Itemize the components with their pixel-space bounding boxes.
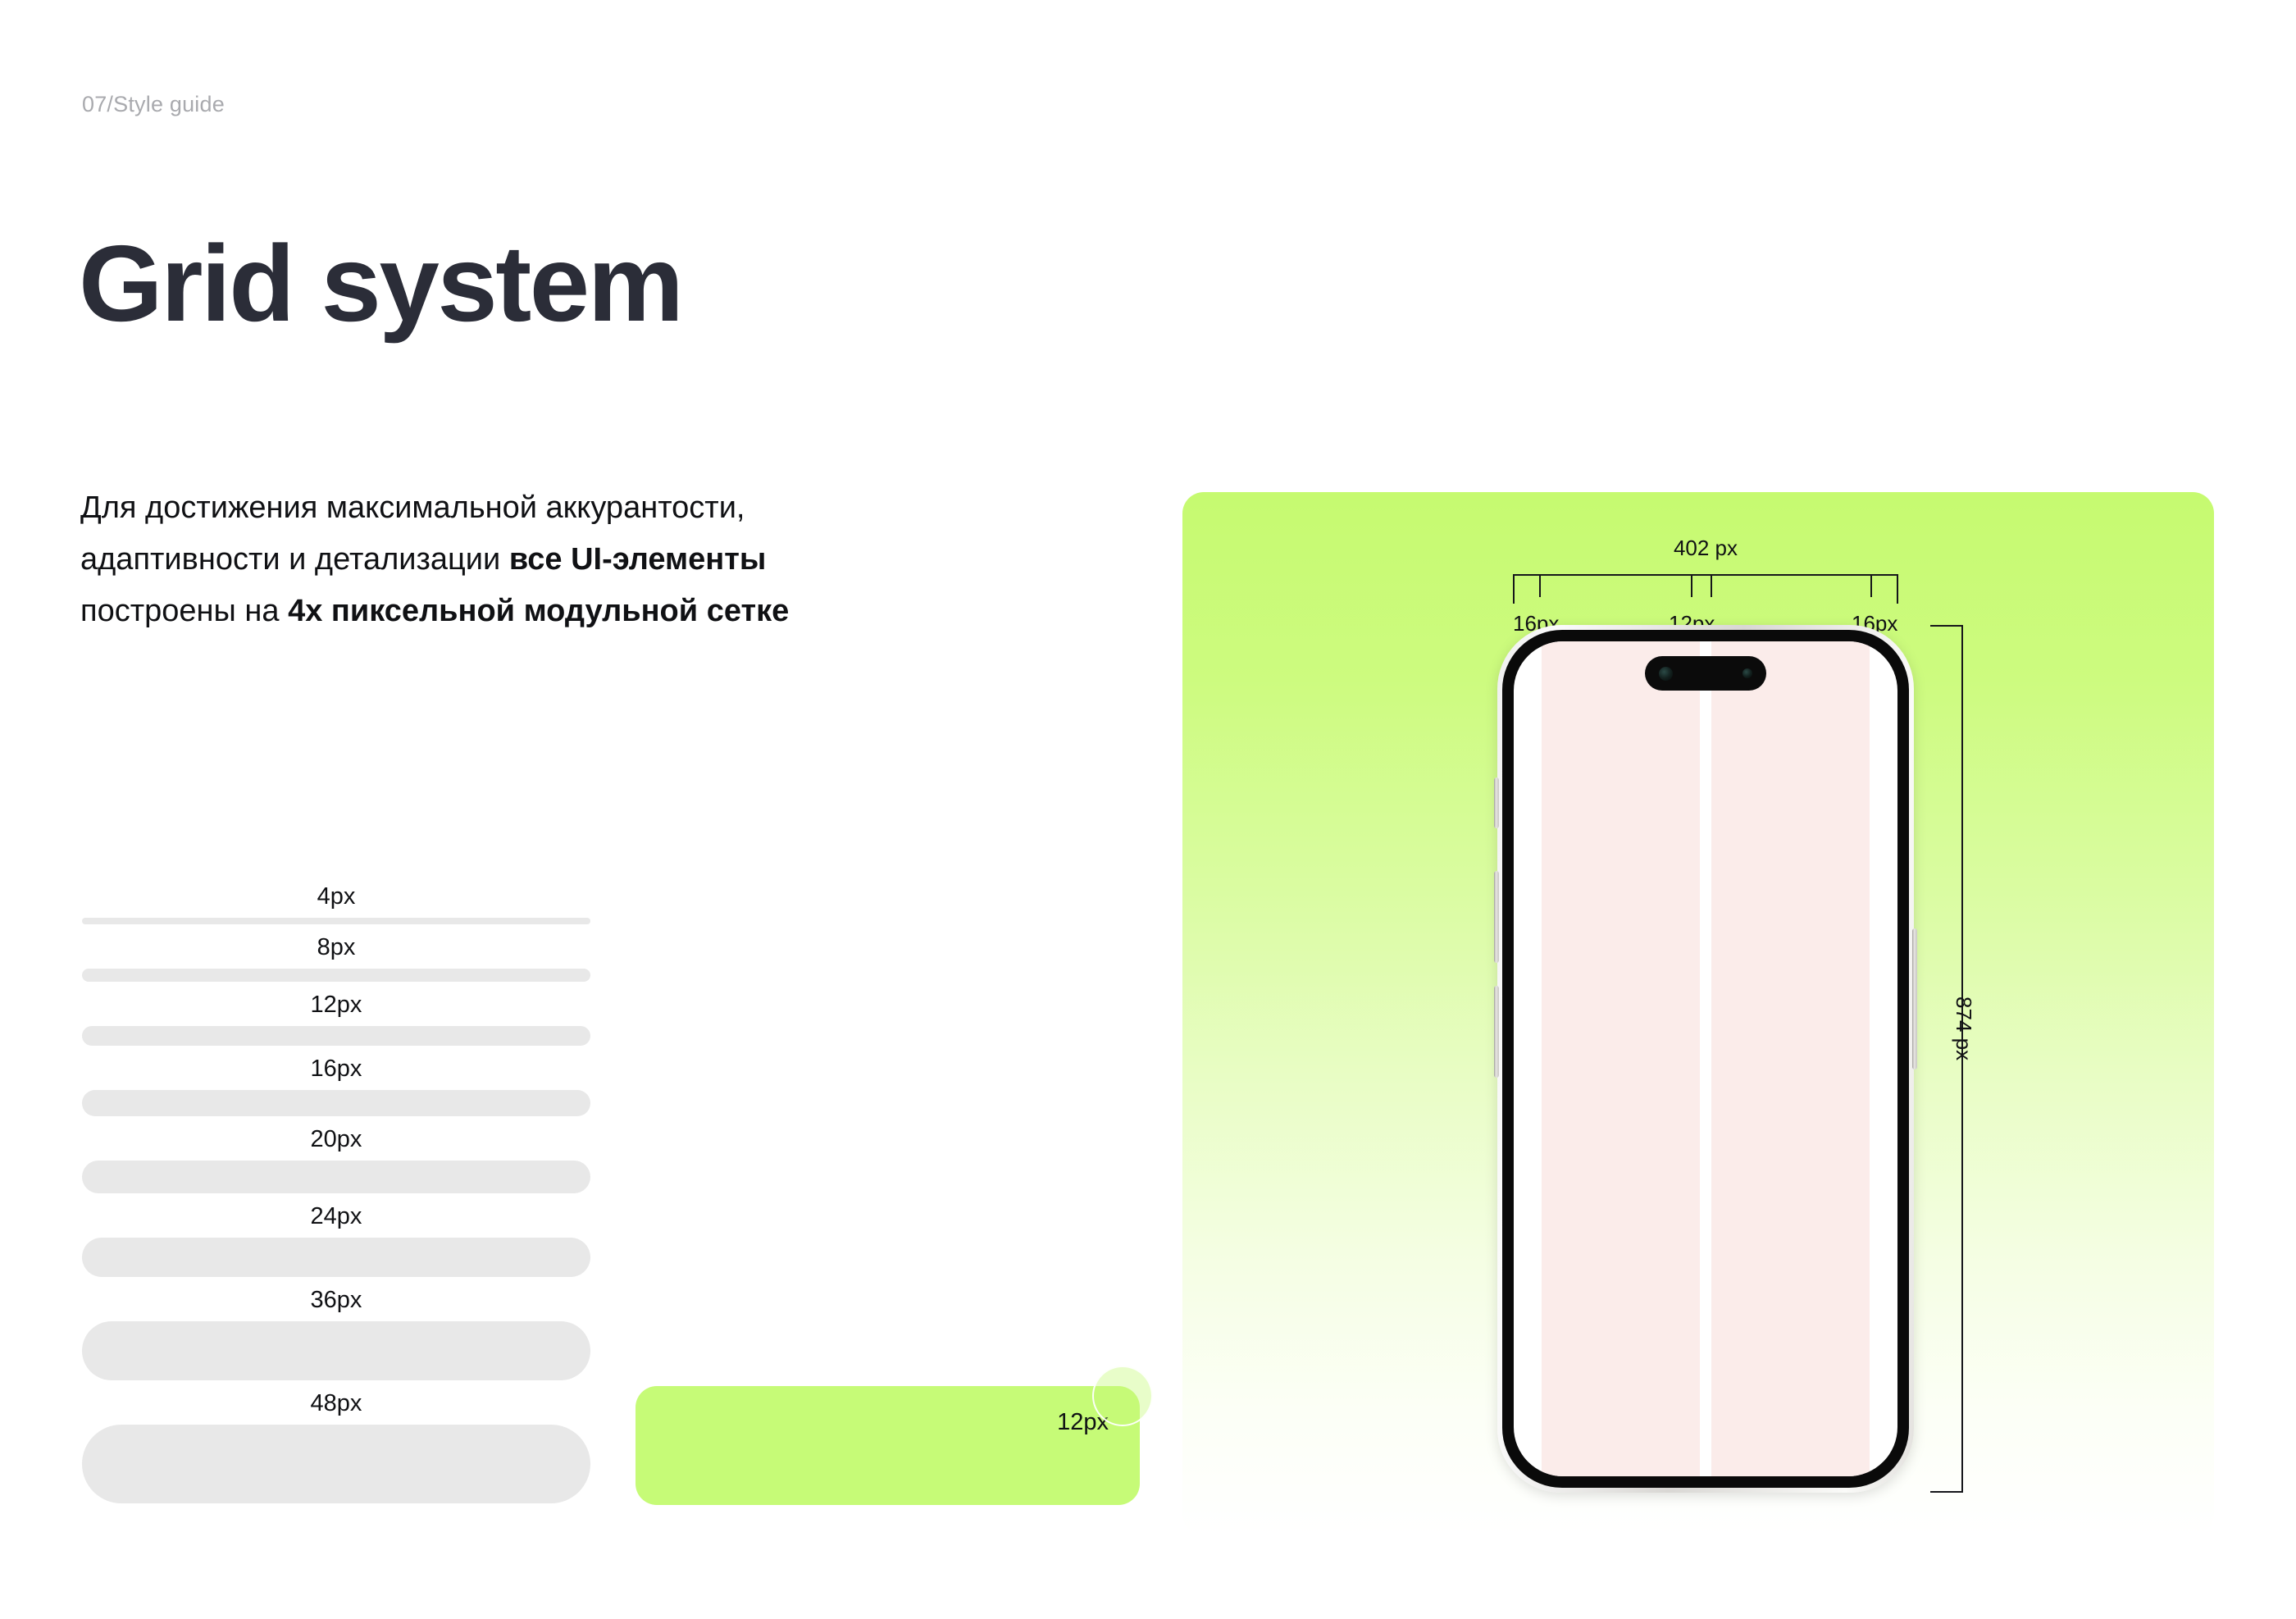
tick-gutter-right bbox=[1711, 574, 1712, 597]
intro-line-3-bold: 4х пиксельной модульной сетке bbox=[288, 594, 789, 628]
spacing-scale-row: 8px bbox=[82, 924, 590, 982]
vertical-cap-top bbox=[1930, 625, 1963, 627]
phone-width-label: 402 px bbox=[1513, 536, 1898, 561]
style-guide-page: 07/Style guide Grid system Для достижени… bbox=[0, 0, 2296, 1619]
spacing-scale-bar bbox=[82, 1026, 590, 1046]
tick-right-outer bbox=[1897, 574, 1898, 604]
face-id-sensor-icon bbox=[1742, 668, 1752, 678]
spacing-scale-label: 4px bbox=[82, 873, 590, 918]
spacing-scale-row: 16px bbox=[82, 1046, 590, 1116]
spacing-scale-list: 4px8px12px16px20px24px36px48px bbox=[82, 873, 590, 1503]
spacing-scale-label: 16px bbox=[82, 1046, 590, 1090]
top-dimension-ruler bbox=[1513, 574, 1898, 575]
tick-left-inner bbox=[1539, 574, 1541, 597]
spacing-scale-label: 12px bbox=[82, 982, 590, 1026]
intro-paragraph: Для достижения максимальной аккурантости… bbox=[80, 482, 991, 637]
spacing-scale-bar bbox=[82, 918, 590, 924]
spacing-scale-bar bbox=[82, 969, 590, 982]
radius-demo-card: 12px bbox=[635, 1386, 1140, 1505]
spacing-scale-label: 24px bbox=[82, 1193, 590, 1238]
intro-line-2-bold: все UI-элементы bbox=[509, 542, 766, 577]
spacing-scale-label: 36px bbox=[82, 1277, 590, 1321]
spacing-scale-bar bbox=[82, 1238, 590, 1277]
spacing-scale-label: 48px bbox=[82, 1380, 590, 1425]
spacing-scale-row: 24px bbox=[82, 1193, 590, 1277]
grid-column-right bbox=[1711, 641, 1870, 1476]
spacing-scale-bar bbox=[82, 1090, 590, 1116]
phone-mockup bbox=[1497, 625, 1914, 1493]
dynamic-island bbox=[1645, 656, 1766, 691]
phone-height-label: 874 px bbox=[1951, 996, 1976, 1060]
action-button[interactable] bbox=[1494, 778, 1499, 828]
spacing-scale-bar bbox=[82, 1425, 590, 1503]
intro-line-3-plain: построены на bbox=[80, 594, 288, 628]
spacing-scale-bar bbox=[82, 1161, 590, 1193]
power-button[interactable] bbox=[1912, 928, 1917, 1069]
intro-line-1: Для достижения максимальной аккурантости… bbox=[80, 490, 745, 525]
volume-up-button[interactable] bbox=[1494, 871, 1499, 963]
page-title: Grid system bbox=[79, 230, 682, 338]
intro-line-2-plain: адаптивности и детализации bbox=[80, 542, 509, 577]
radius-demo-circle bbox=[1092, 1366, 1153, 1426]
spacing-scale-row: 36px bbox=[82, 1277, 590, 1380]
tick-right-inner bbox=[1870, 574, 1872, 597]
ruler-baseline bbox=[1513, 574, 1898, 576]
grid-column-left bbox=[1542, 641, 1700, 1476]
spacing-scale-label: 8px bbox=[82, 924, 590, 969]
tick-gutter-left bbox=[1691, 574, 1692, 597]
volume-down-button[interactable] bbox=[1494, 986, 1499, 1078]
spacing-scale-label: 20px bbox=[82, 1116, 590, 1161]
spacing-scale-row: 48px bbox=[82, 1380, 590, 1503]
spacing-scale-row: 4px bbox=[82, 873, 590, 924]
phone-screen bbox=[1514, 641, 1897, 1476]
spacing-scale-bar bbox=[82, 1321, 590, 1380]
vertical-cap-bottom bbox=[1930, 1491, 1963, 1493]
spacing-scale-row: 12px bbox=[82, 982, 590, 1046]
front-camera-icon bbox=[1659, 667, 1673, 681]
spacing-scale-row: 20px bbox=[82, 1116, 590, 1193]
breadcrumb-eyebrow: 07/Style guide bbox=[82, 92, 225, 117]
tick-left-outer bbox=[1513, 574, 1515, 604]
